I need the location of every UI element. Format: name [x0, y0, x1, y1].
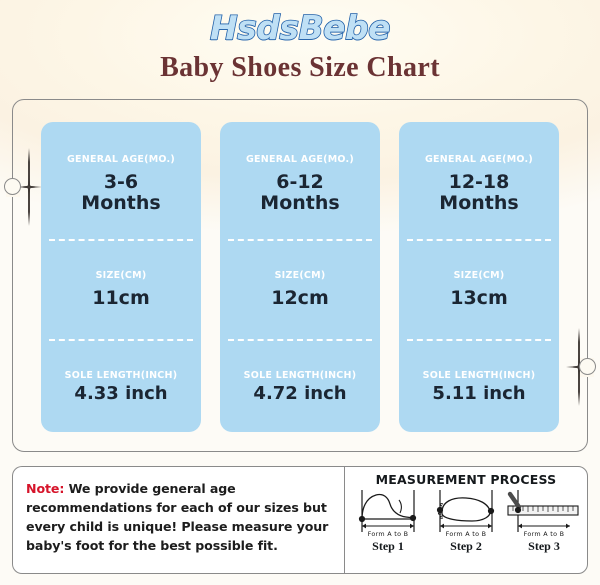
cell-label-sole-2: SOLE LENGTH(INCH): [244, 370, 357, 381]
size-table: GENERAL AGE(MO.) 3-6 Months SIZE(CM) 11c…: [41, 122, 559, 432]
note-body: We provide general age recommendations f…: [26, 481, 328, 553]
cell-value-size-2: 12cm: [271, 288, 329, 309]
note-panel: Note: We provide general age recommendat…: [12, 466, 344, 574]
brand-logo-text: HsdsBebe: [210, 8, 390, 48]
cell-value-sole-3: 5.11 inch: [432, 384, 525, 404]
cell-size-1: SIZE(CM) 11cm: [41, 241, 201, 340]
cell-label-age-2: GENERAL AGE(MO.): [246, 154, 354, 165]
cell-size-2: SIZE(CM) 12cm: [220, 241, 380, 340]
measurement-step-3: Form A to B Step 3: [506, 488, 582, 554]
ruler-pencil-icon: Form A to B: [506, 488, 582, 540]
measurement-title: MEASUREMENT PROCESS: [345, 472, 587, 487]
cell-label-size-1: SIZE(CM): [96, 270, 147, 281]
step-1-caption: Form A to B: [368, 530, 409, 538]
size-column-3: GENERAL AGE(MO.) 12-18 Months SIZE(CM) 1…: [399, 122, 559, 432]
cell-label-size-2: SIZE(CM): [275, 270, 326, 281]
cell-age-2: GENERAL AGE(MO.) 6-12 Months: [220, 122, 380, 239]
step-3-caption: Form A to B: [524, 530, 565, 538]
step-2-caption: Form A to B: [446, 530, 487, 538]
size-chart-page: HsdsBebe Baby Shoes Size Chart GENERAL A…: [0, 0, 600, 585]
cell-value-age-3: 12-18 Months: [439, 172, 518, 215]
cell-sole-2: SOLE LENGTH(INCH) 4.72 inch: [220, 341, 380, 432]
size-column-2: GENERAL AGE(MO.) 6-12 Months SIZE(CM) 12…: [220, 122, 380, 432]
measurement-steps: Form A to B Step 1: [345, 487, 587, 554]
cell-label-age-3: GENERAL AGE(MO.): [425, 154, 533, 165]
foot-top-view-icon: Form A to B: [428, 488, 504, 540]
cell-age-3: GENERAL AGE(MO.) 12-18 Months: [399, 122, 559, 239]
step-1-label: Step 1: [350, 539, 426, 554]
bottom-panels: Note: We provide general age recommendat…: [12, 466, 588, 574]
cell-label-age-1: GENERAL AGE(MO.): [67, 154, 175, 165]
brand-logo: HsdsBebe: [0, 8, 600, 52]
note-text: Note: We provide general age recommendat…: [26, 479, 331, 556]
measurement-step-1: Form A to B Step 1: [350, 488, 426, 554]
cell-value-age-1: 3-6 Months: [81, 172, 160, 215]
measurement-panel: MEASUREMENT PROCESS: [344, 466, 588, 574]
cell-value-size-1: 11cm: [92, 288, 150, 309]
cell-value-size-3: 13cm: [450, 288, 508, 309]
cell-age-1: GENERAL AGE(MO.) 3-6 Months: [41, 122, 201, 239]
frame-notch-right: [579, 358, 596, 375]
page-title: Baby Shoes Size Chart: [0, 52, 600, 84]
note-keyword: Note:: [26, 481, 64, 496]
step-2-label: Step 2: [428, 539, 504, 554]
foot-side-view-icon: Form A to B: [350, 488, 426, 540]
cell-size-3: SIZE(CM) 13cm: [399, 241, 559, 340]
step-3-label: Step 3: [506, 539, 582, 554]
cell-value-sole-1: 4.33 inch: [74, 384, 167, 404]
cell-label-sole-3: SOLE LENGTH(INCH): [423, 370, 536, 381]
cell-label-size-3: SIZE(CM): [454, 270, 505, 281]
size-column-1: GENERAL AGE(MO.) 3-6 Months SIZE(CM) 11c…: [41, 122, 201, 432]
cell-sole-1: SOLE LENGTH(INCH) 4.33 inch: [41, 341, 201, 432]
cell-value-sole-2: 4.72 inch: [253, 384, 346, 404]
cell-sole-3: SOLE LENGTH(INCH) 5.11 inch: [399, 341, 559, 432]
frame-notch-left: [4, 178, 21, 195]
measurement-step-2: Form A to B Step 2: [428, 488, 504, 554]
cell-label-sole-1: SOLE LENGTH(INCH): [65, 370, 178, 381]
cell-value-age-2: 6-12 Months: [260, 172, 339, 215]
